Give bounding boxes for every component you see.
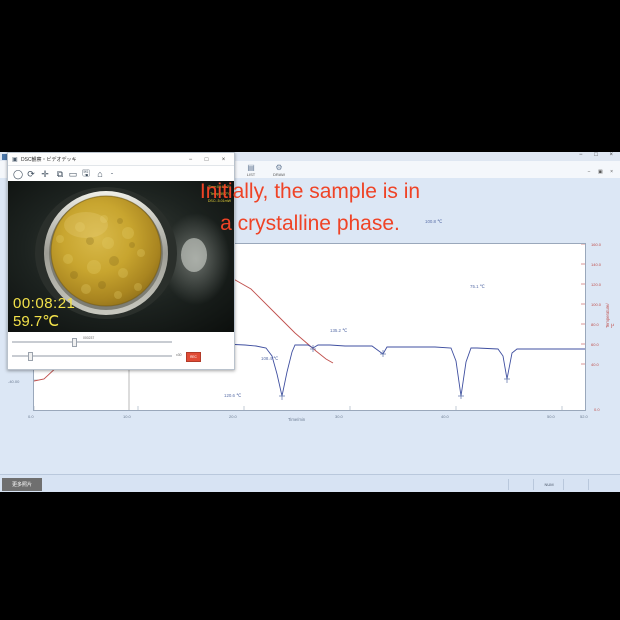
app-status-bar: 更多照片 NUM: [0, 474, 620, 492]
x-tick-4: 40.0: [441, 414, 449, 419]
annotation-markers: [279, 345, 510, 400]
frame-icon[interactable]: ▭: [67, 169, 79, 180]
add-icon[interactable]: ✛: [39, 169, 51, 180]
x-tick-5: 50.0: [547, 414, 555, 419]
document-window-controls[interactable]: − ▣ ×: [588, 169, 616, 175]
x-tick-2: 20.0: [229, 414, 237, 419]
video-transport-panel[interactable]: 000237 x30 REC: [8, 332, 234, 369]
seek-slider-knob[interactable]: [72, 338, 77, 347]
y-right-tick-0: 160.0: [591, 242, 601, 247]
annotation-label-108-4: 108.4 ℃: [261, 356, 278, 362]
overlay-elapsed-timer: 00:08:21: [13, 295, 75, 312]
record-button[interactable]: REC: [186, 352, 201, 362]
window-controls[interactable]: − □ ×: [579, 152, 618, 158]
seek-position-label: 000237: [83, 336, 94, 340]
annotation-label-120-6: 120.6 ℃: [224, 393, 241, 399]
copy-icon[interactable]: ⧉: [54, 169, 66, 180]
x-tick-6: 52.0: [580, 414, 588, 419]
rate-slider-track[interactable]: [12, 355, 172, 357]
status-cell-2: [563, 479, 589, 490]
status-cell-num: NUM: [533, 479, 564, 490]
save-icon[interactable]: 🖫: [80, 169, 92, 180]
annotation-label-75-1: 75.1 ℃: [470, 284, 485, 290]
overlay-temperature: 59.7℃: [13, 312, 59, 330]
x-tick-0: 0.0: [28, 414, 34, 419]
loop-icon[interactable]: ⟳: [25, 169, 37, 180]
y-right-tick-6: 40.0: [591, 362, 599, 367]
y-right-tick-4: 80.0: [591, 322, 599, 327]
x-axis-title: Time/min: [288, 417, 305, 422]
ribbon-item-list[interactable]: ▤ LIST: [238, 163, 264, 177]
y-right-tick-1: 140.0: [591, 262, 601, 267]
x-tick-3: 30.0: [335, 414, 343, 419]
y-right-tick-3: 100.0: [591, 302, 601, 307]
x-tick-1: 10.0: [123, 414, 131, 419]
more-photos-button[interactable]: 更多照片: [2, 478, 42, 491]
list-icon: ▤: [238, 163, 264, 172]
video-minimize-button[interactable]: −: [183, 155, 198, 165]
status-cell-3: [588, 479, 619, 490]
video-title-text: DSC観察・ビデオデッキ: [21, 156, 77, 163]
status-cell-0: [508, 479, 534, 490]
record-icon[interactable]: ◯: [12, 169, 24, 180]
y-right-tick-2: 120.0: [591, 282, 601, 287]
caption-line-2: a crystalline phase.: [0, 212, 620, 236]
video-titlebar[interactable]: ▣ DSC観察・ビデオデッキ − □ ×: [8, 153, 234, 166]
screen: 解析 - [Acenaphthole-2] − □ × − ▣ × ▤ LIST…: [0, 0, 620, 620]
camera-icon: ▣: [12, 157, 18, 163]
y-right-tick-5: 60.0: [591, 342, 599, 347]
video-maximize-button[interactable]: □: [199, 155, 214, 165]
annotation-label-135-2: 135.2 ℃: [330, 328, 347, 334]
home-icon[interactable]: ⌂: [94, 169, 106, 180]
y-axis-right-title: Temperature/℃: [605, 303, 615, 328]
more-icon[interactable]: ˵: [106, 169, 118, 180]
ribbon-item-draw-label: DRAW: [273, 172, 285, 177]
draw-icon: ⚙: [266, 163, 292, 172]
ribbon-item-draw[interactable]: ⚙ DRAW: [266, 163, 292, 177]
seek-slider-track[interactable]: [12, 341, 172, 343]
y-left-tick-2: -40.00: [8, 379, 19, 384]
caption-line-1: Initially, the sample is in: [0, 180, 620, 204]
rate-slider-knob[interactable]: [28, 352, 33, 361]
rate-label: x30: [176, 353, 181, 357]
y-right-tick-7: 0.0: [594, 407, 600, 412]
ribbon-item-list-label: LIST: [247, 172, 255, 177]
video-close-button[interactable]: ×: [216, 155, 231, 165]
